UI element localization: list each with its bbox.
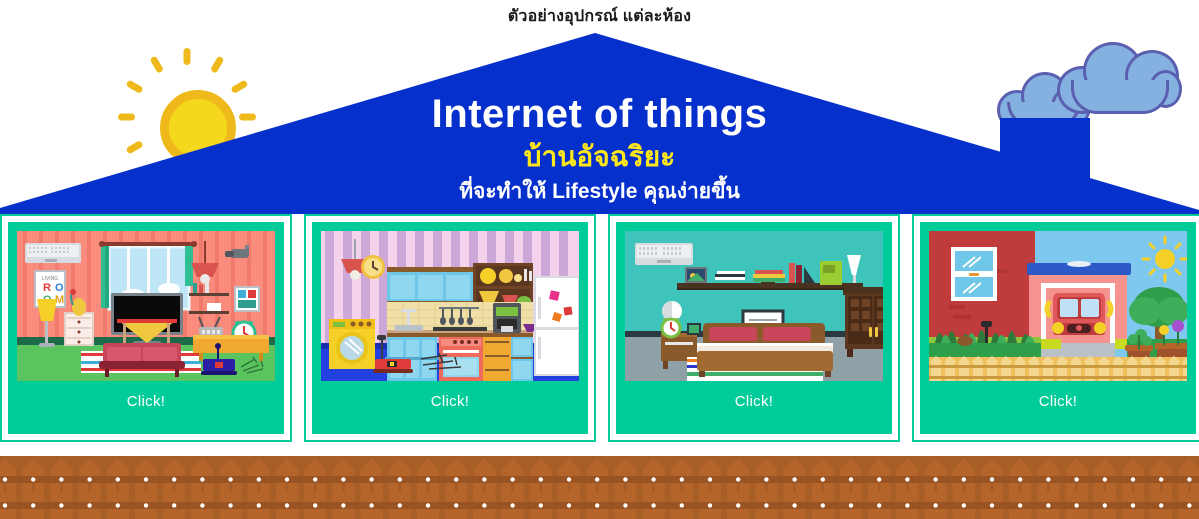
fence-nail (285, 477, 289, 481)
fence-nail (764, 477, 768, 481)
fence-nail (849, 503, 853, 507)
panel-inner: LIVING R O O M (8, 222, 284, 434)
living-room-scene: LIVING R O O M (17, 231, 275, 381)
kitchen-click-label[interactable]: Click! (431, 393, 469, 410)
fence-nail (454, 503, 458, 507)
fence-nail (1159, 477, 1163, 481)
fence-nail (31, 477, 35, 481)
fence-nail (313, 477, 317, 481)
fence-nail (398, 477, 402, 481)
panel-inner: Click! (312, 222, 588, 434)
fence-nail (59, 503, 63, 507)
fence-nail (708, 503, 712, 507)
garden-fence-icon (929, 356, 1187, 381)
room-panel-garage[interactable]: Click! (912, 214, 1199, 442)
fence-nail (539, 477, 543, 481)
living-room-click-label[interactable]: Click! (127, 393, 165, 410)
fence-nail (228, 477, 232, 481)
washing-machine-icon (329, 319, 375, 369)
fence-nail (228, 503, 232, 507)
fence-nail (990, 477, 994, 481)
fence-nail (398, 503, 402, 507)
fence-nail (369, 503, 373, 507)
fence-nail (736, 503, 740, 507)
fence-nail (680, 503, 684, 507)
fence-nail (1046, 503, 1050, 507)
fence-nail (144, 503, 148, 507)
page-title: ตัวอย่างอุปกรณ์ แต่ละห้อง (0, 4, 1199, 29)
garage-scene (929, 231, 1187, 381)
fence-nail (567, 503, 571, 507)
fence-nail (567, 477, 571, 481)
fence-nail (59, 477, 63, 481)
wooden-fence (0, 456, 1199, 519)
infographic-stage: ตัวอย่างอุปกรณ์ แต่ละห้อง Internet of th… (0, 0, 1199, 519)
fence-nail (172, 477, 176, 481)
fence-nail (257, 503, 261, 507)
room-panel-bedroom[interactable]: Click! (608, 214, 900, 442)
bedroom-scene (625, 231, 883, 381)
fence-nail (1046, 477, 1050, 481)
fence-nail (849, 477, 853, 481)
fence-nail (172, 503, 176, 507)
fence-nail (200, 503, 204, 507)
fence-nail (792, 503, 796, 507)
fence-nail (595, 477, 599, 481)
svg-text:O: O (55, 282, 64, 294)
fence-nail (905, 477, 909, 481)
room-panel-kitchen[interactable]: Click! (304, 214, 596, 442)
fence-nail (595, 503, 599, 507)
fence-nail (1103, 477, 1107, 481)
fence-nail (87, 503, 91, 507)
fence-nail (87, 477, 91, 481)
fence-nail (877, 503, 881, 507)
fence-nail (1074, 503, 1078, 507)
room-panel-living-room[interactable]: LIVING R O O M (0, 214, 292, 442)
fence-nail (1074, 477, 1078, 481)
sun-icon (1143, 237, 1187, 281)
fence-nail (962, 477, 966, 481)
wall-clock-icon (361, 255, 385, 279)
bedroom-click-label[interactable]: Click! (735, 393, 773, 410)
coffee-machine-icon (493, 303, 521, 333)
fence-nail (792, 477, 796, 481)
fence-nail (510, 477, 514, 481)
fence-nail (3, 503, 7, 507)
house-roof (0, 30, 1199, 214)
fence-nail (1159, 503, 1163, 507)
panel-inner: Click! (616, 222, 892, 434)
fence-nail (651, 477, 655, 481)
fence-nail (821, 503, 825, 507)
fence-nail (1187, 477, 1191, 481)
room-panel-list: LIVING R O O M (0, 214, 1199, 452)
fence-nail (31, 503, 35, 507)
fence-nail (341, 503, 345, 507)
fence-nail (1103, 503, 1107, 507)
fence-nail (736, 477, 740, 481)
fence-nail (821, 477, 825, 481)
alarm-clock-icon (662, 318, 680, 337)
fence-nail (426, 503, 430, 507)
fence-nail (962, 503, 966, 507)
fence-nail (341, 477, 345, 481)
fence-nail (1018, 503, 1022, 507)
fence-nail (426, 477, 430, 481)
fence-nail (539, 503, 543, 507)
fence-nail (1131, 477, 1135, 481)
refrigerator-icon (535, 277, 579, 375)
panel-inner: Click! (920, 222, 1196, 434)
fence-nail (933, 477, 937, 481)
fence-nail (116, 477, 120, 481)
fence-nail (482, 477, 486, 481)
fence-nail (680, 477, 684, 481)
fence-nail (1187, 503, 1191, 507)
garage-click-label[interactable]: Click! (1039, 393, 1077, 410)
fence-nail (3, 477, 7, 481)
fence-nail (623, 503, 627, 507)
fence-nail (764, 503, 768, 507)
fence-nail (651, 503, 655, 507)
fence-nail (708, 477, 712, 481)
fence-nail (990, 503, 994, 507)
fence-nail (285, 503, 289, 507)
fence-nail (369, 477, 373, 481)
car-icon (1047, 293, 1111, 335)
fence-nail (1018, 477, 1022, 481)
fence-nail (877, 477, 881, 481)
fence-nail (1131, 503, 1135, 507)
fence-nail (313, 503, 317, 507)
fence-nail (623, 477, 627, 481)
fence-nail (482, 503, 486, 507)
fence-nail (116, 503, 120, 507)
fence-nail (933, 503, 937, 507)
fence-nail (905, 503, 909, 507)
fence-nail (144, 477, 148, 481)
fence-nail (510, 503, 514, 507)
fence-nail (454, 477, 458, 481)
fence-nail (257, 477, 261, 481)
fence-nail (200, 477, 204, 481)
kitchen-scene (321, 231, 579, 381)
svg-text:R: R (43, 282, 51, 294)
